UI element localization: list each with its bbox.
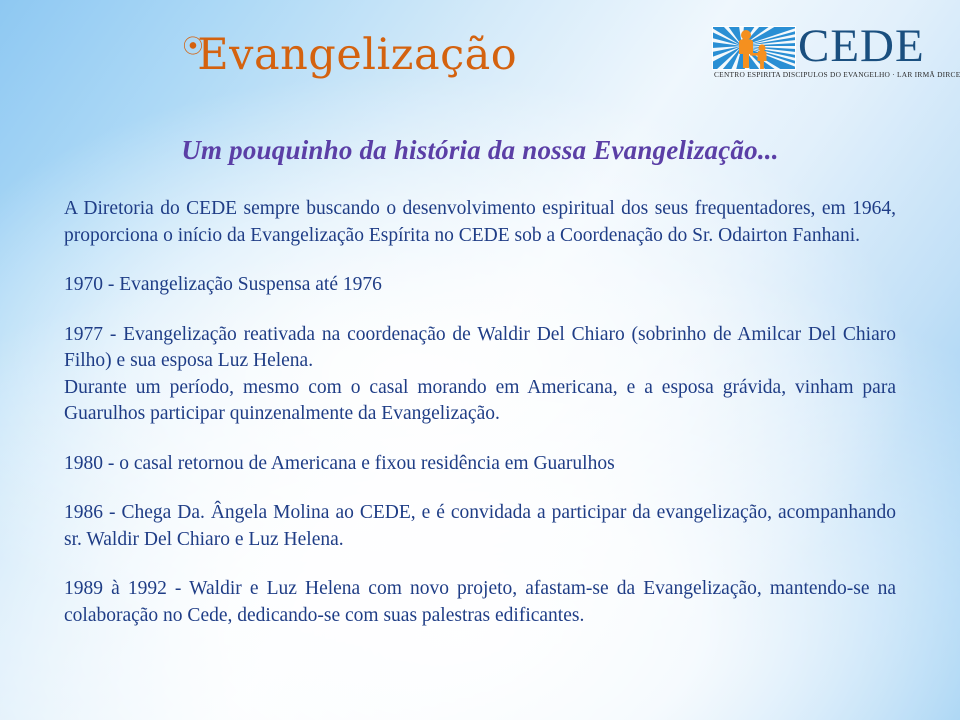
paragraph-1989: 1989 à 1992 - Waldir e Luz Helena com no… bbox=[64, 576, 896, 629]
paragraph-line: 1986 - Chega Da. Ângela Molina ao CEDE, … bbox=[64, 502, 896, 550]
paragraph-1986: 1986 - Chega Da. Ângela Molina ao CEDE, … bbox=[64, 500, 896, 553]
paragraph-line: 1980 - o casal retornou de Americana e f… bbox=[64, 453, 615, 474]
title-swash-ornament: ⦿ bbox=[179, 19, 207, 73]
paragraph-line: 1977 - Evangelização reativada na coorde… bbox=[64, 324, 896, 372]
slide-header: ⦿Evangelização bbox=[0, 0, 960, 100]
cede-family-rays-logo-icon bbox=[712, 26, 796, 70]
slide-subtitle: Um pouquinho da história da nossa Evange… bbox=[0, 133, 960, 167]
presentation-slide: ⦿Evangelização bbox=[0, 0, 960, 720]
paragraph-1980: 1980 - o casal retornou de Americana e f… bbox=[64, 451, 896, 478]
paragraph-line: 1970 - Evangelização Suspensa até 1976 bbox=[64, 274, 382, 295]
paragraph-line: 1989 à 1992 - Waldir e Luz Helena com no… bbox=[64, 578, 896, 626]
paragraph-1970: 1970 - Evangelização Suspensa até 1976 bbox=[64, 272, 896, 299]
paragraph-line: A Diretoria do CEDE sempre buscando o de… bbox=[64, 198, 896, 246]
page-title: ⦿Evangelização bbox=[0, 20, 700, 81]
cede-tagline: CENTRO ESPIRITA DISCIPULOS DO EVANGELHO … bbox=[714, 70, 917, 80]
cede-logo: CEDE CENTRO ESPIRITA DISCIPULOS DO EVANG… bbox=[712, 24, 917, 86]
page-title-text: Evangelização bbox=[197, 30, 517, 80]
slide-body: A Diretoria do CEDE sempre buscando o de… bbox=[64, 196, 896, 629]
cede-wordmark: CEDE bbox=[798, 19, 925, 73]
paragraph-line: Durante um período, mesmo com o casal mo… bbox=[64, 377, 896, 425]
paragraph-1977: 1977 - Evangelização reativada na coorde… bbox=[64, 322, 896, 428]
paragraph-1964: A Diretoria do CEDE sempre buscando o de… bbox=[64, 196, 896, 249]
